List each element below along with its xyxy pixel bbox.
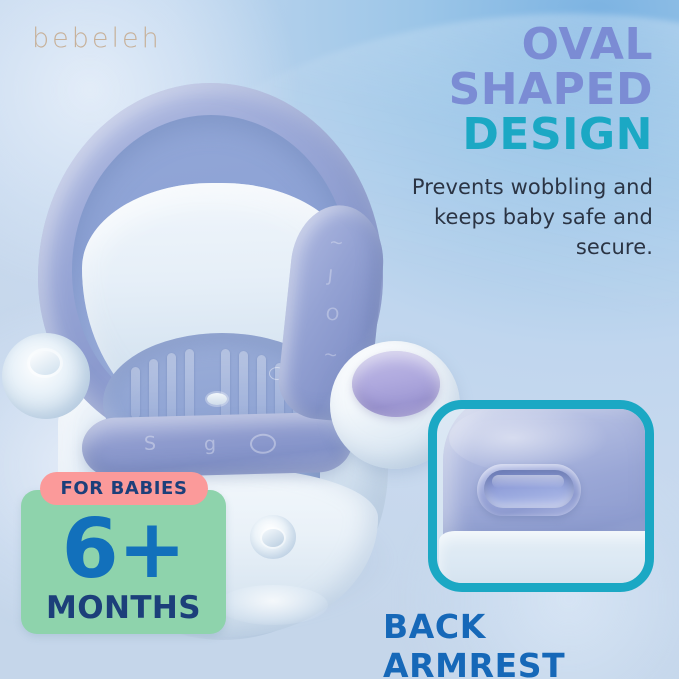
age-badge-pill: FOR BABIES — [40, 472, 208, 505]
armrest-glyph-g: g — [204, 433, 217, 455]
suction-cup-left — [2, 333, 90, 419]
suction-cup-left-core — [30, 351, 60, 375]
inset-photo-armrest — [437, 409, 645, 583]
seat-drain-hole — [207, 393, 227, 405]
product-front-armrest: S g — [81, 411, 352, 478]
inset-grip-highlight — [492, 475, 564, 488]
product-knob-button — [352, 351, 440, 417]
product-marketing-image: bebeleh OVAL SHAPED DESIGN Prevents wobb… — [0, 0, 679, 679]
age-badge-value: 6+ — [21, 508, 226, 592]
inset-caption: BACK ARMREST — [383, 607, 679, 679]
age-badge-pill-label: FOR BABIES — [60, 478, 187, 499]
product-bottom-foot — [218, 585, 328, 625]
right-armrest-glyph-4: ~ — [323, 344, 339, 365]
suction-cup-center-core — [262, 529, 284, 547]
armrest-glyph-s: S — [144, 433, 157, 455]
armrest-ring-glyph — [250, 433, 277, 454]
inset-armrest-base — [439, 531, 654, 592]
brand-logo: bebeleh — [32, 23, 162, 54]
right-armrest-glyph-3: O — [325, 304, 340, 325]
inset-highlight — [449, 403, 609, 473]
right-armrest-glyph-2: J — [327, 266, 334, 286]
age-badge: 6+ MONTHS FOR BABIES — [21, 472, 226, 634]
right-armrest-glyph-1: ~ — [328, 232, 344, 253]
age-badge-unit: MONTHS — [21, 590, 226, 626]
inset-detail-panel — [428, 400, 654, 592]
